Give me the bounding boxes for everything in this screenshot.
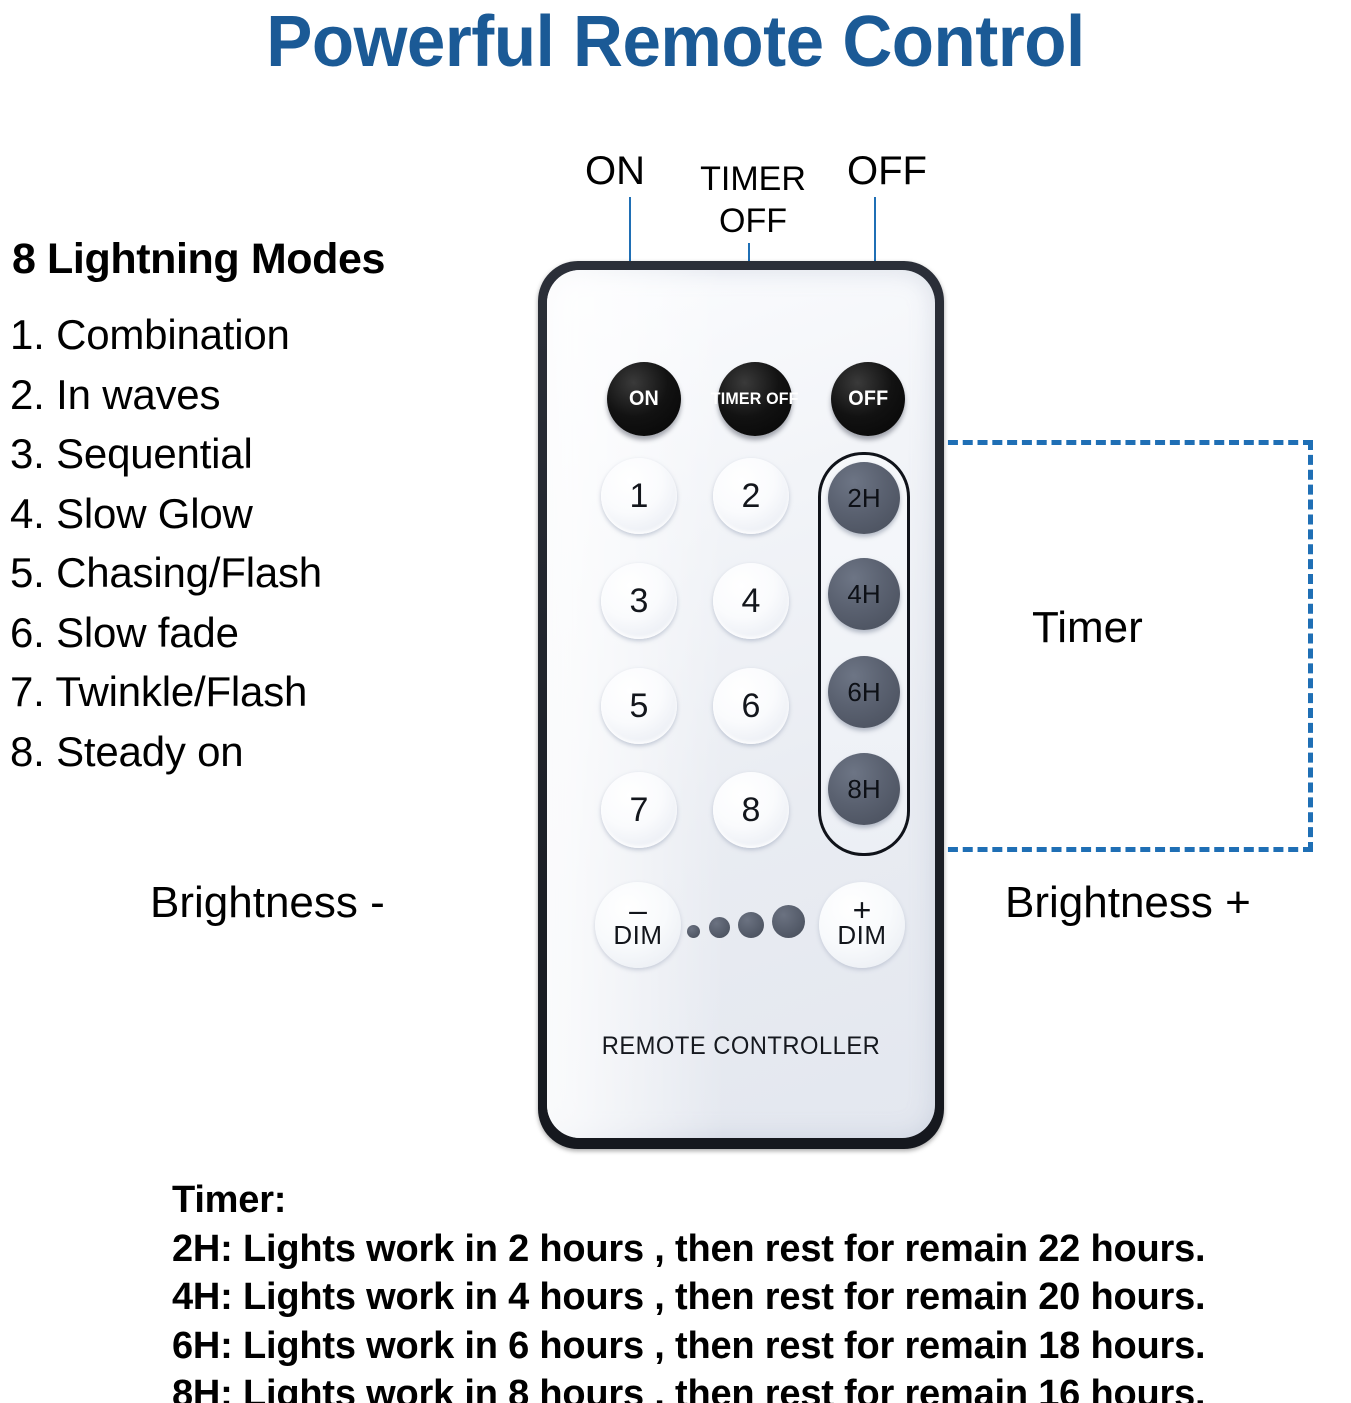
page-title: Powerful Remote Control: [27, 2, 1324, 82]
off-button-label: OFF: [848, 387, 888, 411]
dim-down-label: DIM: [613, 920, 662, 950]
callout-timer-off: TIMER OFF: [693, 158, 813, 242]
callout-on: ON: [585, 148, 645, 194]
list-item: 4. Slow Glow: [10, 484, 490, 544]
timer-button-8h[interactable]: 8H: [828, 753, 900, 825]
brightness-dot-1: [687, 925, 700, 938]
minus-icon: –: [629, 900, 647, 920]
remote-control-device: ON TIMER OFF OFF 1 2 3 4 5 6 7 8 2H 4H 6…: [538, 261, 944, 1149]
callout-off: OFF: [847, 148, 927, 194]
brightness-level-indicator: [687, 908, 807, 948]
list-item: 7. Twinkle/Flash: [10, 662, 490, 722]
product-infographic: Powerful Remote Control 8 Lightning Mode…: [0, 0, 1351, 1403]
timer-button-4h[interactable]: 4H: [828, 558, 900, 630]
timer-button-6h[interactable]: 6H: [828, 656, 900, 728]
timer-description-line: 6H: Lights work in 6 hours , then rest f…: [172, 1322, 1272, 1371]
timer-description-block: Timer: 2H: Lights work in 2 hours , then…: [172, 1176, 1272, 1403]
brightness-dot-4: [772, 905, 805, 938]
brightness-dot-3: [738, 912, 764, 938]
timer-description-line: 4H: Lights work in 4 hours , then rest f…: [172, 1273, 1272, 1322]
mode-button-5[interactable]: 5: [601, 668, 677, 744]
timer-off-button[interactable]: TIMER OFF: [718, 362, 792, 436]
remote-faceplate: ON TIMER OFF OFF 1 2 3 4 5 6 7 8 2H 4H 6…: [547, 270, 935, 1138]
timer-button-2h[interactable]: 2H: [828, 462, 900, 534]
on-button[interactable]: ON: [607, 362, 681, 436]
timer-description-line: 8H: Lights work in 8 hours , then rest f…: [172, 1370, 1272, 1403]
mode-button-6[interactable]: 6: [713, 668, 789, 744]
mode-button-1[interactable]: 1: [601, 458, 677, 534]
mode-button-7[interactable]: 7: [601, 772, 677, 848]
on-button-label: ON: [629, 387, 659, 411]
dim-down-button[interactable]: – DIM: [595, 882, 681, 968]
list-item: 1. Combination: [10, 305, 490, 365]
list-item: 6. Slow fade: [10, 603, 490, 663]
off-button[interactable]: OFF: [831, 362, 905, 436]
timer-description-line: 2H: Lights work in 2 hours , then rest f…: [172, 1225, 1272, 1274]
mode-button-2[interactable]: 2: [713, 458, 789, 534]
timer-button-group: 2H 4H 6H 8H: [818, 452, 910, 856]
timer-description-heading: Timer:: [172, 1176, 1272, 1225]
dim-up-button[interactable]: + DIM: [819, 882, 905, 968]
list-item: 2. In waves: [10, 365, 490, 425]
modes-heading: 8 Lightning Modes: [12, 235, 385, 284]
timer-off-button-label: TIMER OFF: [711, 389, 799, 409]
remote-brand-text: REMOTE CONTROLLER: [557, 1032, 926, 1061]
brightness-dot-2: [709, 917, 730, 938]
mode-button-8[interactable]: 8: [713, 772, 789, 848]
callout-brightness-plus: Brightness +: [1005, 880, 1251, 926]
list-item: 3. Sequential: [10, 424, 490, 484]
modes-list: 1. Combination 2. In waves 3. Sequential…: [10, 305, 490, 781]
dim-up-label: DIM: [837, 920, 886, 950]
plus-icon: +: [853, 900, 872, 920]
mode-button-4[interactable]: 4: [713, 563, 789, 639]
mode-button-3[interactable]: 3: [601, 563, 677, 639]
list-item: 5. Chasing/Flash: [10, 543, 490, 603]
callout-brightness-minus: Brightness -: [150, 880, 385, 926]
list-item: 8. Steady on: [10, 722, 490, 782]
